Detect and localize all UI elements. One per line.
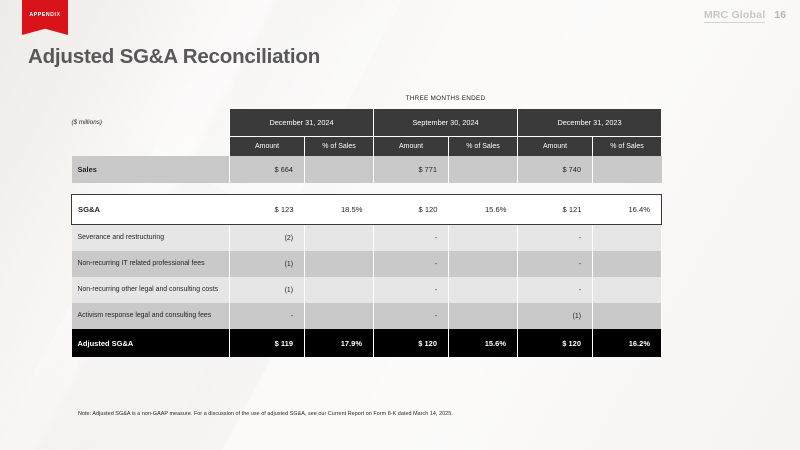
detail-label-2: Non-recurring other legal and consulting…	[72, 277, 230, 303]
detail-0-amount-1: (2)	[230, 225, 305, 252]
detail-1-pct-1	[305, 251, 374, 277]
detail-1-pct-3	[593, 251, 662, 277]
detail-1-amount-3: -	[518, 251, 593, 277]
table-row: Non-recurring other legal and consulting…	[72, 277, 662, 303]
detail-3-amount-1: -	[230, 303, 305, 329]
total-pct-2: 15.6%	[449, 329, 518, 357]
sga-amount-1: $ 123	[230, 195, 305, 225]
brand-area: MRC Global 16	[704, 9, 786, 23]
sga-pct-2: 15.6%	[449, 195, 518, 225]
sales-amount-3: $ 740	[518, 156, 593, 183]
sga-amount-3: $ 121	[518, 195, 593, 225]
sales-pct-2	[449, 156, 518, 183]
subheader-spacer	[72, 137, 230, 157]
detail-1-amount-1: (1)	[230, 251, 305, 277]
period-header-sep-2024: September 30, 2024	[374, 109, 518, 137]
row-spacer	[72, 183, 662, 195]
detail-3-pct-3	[593, 303, 662, 329]
table-row: Activism response legal and consulting f…	[72, 303, 662, 329]
sga-amount-2: $ 120	[374, 195, 449, 225]
detail-0-amount-2: -	[374, 225, 449, 252]
subheader-pct-2: % of Sales	[449, 137, 518, 157]
detail-0-pct-3	[593, 225, 662, 252]
sales-pct-1	[305, 156, 374, 183]
footnote-text: Note: Adjusted SG&A is a non-GAAP measur…	[78, 411, 453, 417]
table-row: Non-recurring IT related professional fe…	[72, 251, 662, 277]
detail-2-pct-1	[305, 277, 374, 303]
total-amount-3: $ 120	[518, 329, 593, 357]
total-pct-3: 16.2%	[593, 329, 662, 357]
detail-3-pct-1	[305, 303, 374, 329]
detail-0-pct-1	[305, 225, 374, 252]
page-number: 16	[774, 9, 786, 21]
appendix-badge-label: APPENDIX	[29, 12, 60, 18]
group-header-label: THREE MONTHS ENDED	[230, 88, 662, 109]
mrc-global-logo: MRC Global	[704, 9, 766, 23]
table-row: Severance and restructuring (2) - -	[72, 225, 662, 252]
subheader-amount-2: Amount	[374, 137, 449, 157]
subheader-amount-3: Amount	[518, 137, 593, 157]
sales-label: Sales	[72, 156, 230, 183]
table-row-sga: SG&A $ 123 18.5% $ 120 15.6% $ 121 16.4%	[72, 195, 662, 225]
detail-0-pct-2	[449, 225, 518, 252]
subheader-pct-3: % of Sales	[593, 137, 662, 157]
sga-label: SG&A	[72, 195, 230, 225]
detail-2-amount-3: -	[518, 277, 593, 303]
group-header-spacer	[72, 88, 230, 109]
reconciliation-table-container: THREE MONTHS ENDED ($ millions) December…	[71, 88, 662, 357]
detail-3-amount-3: (1)	[518, 303, 593, 329]
detail-2-pct-3	[593, 277, 662, 303]
detail-label-3: Activism response legal and consulting f…	[72, 303, 230, 329]
page-title: Adjusted SG&A Reconciliation	[28, 45, 320, 69]
subheader-amount-1: Amount	[230, 137, 305, 157]
detail-0-amount-3: -	[518, 225, 593, 252]
group-header-row: THREE MONTHS ENDED	[72, 88, 662, 109]
total-amount-1: $ 119	[230, 329, 305, 357]
slide-canvas: APPENDIX MRC Global 16 Adjusted SG&A Rec…	[0, 0, 800, 450]
sales-pct-3	[593, 156, 662, 183]
period-header-dec-2023: December 31, 2023	[518, 109, 662, 137]
period-header-row: ($ millions) December 31, 2024 September…	[72, 109, 662, 137]
total-pct-1: 17.9%	[305, 329, 374, 357]
sales-amount-1: $ 664	[230, 156, 305, 183]
detail-1-amount-2: -	[374, 251, 449, 277]
detail-label-0: Severance and restructuring	[72, 225, 230, 252]
sales-amount-2: $ 771	[374, 156, 449, 183]
row-spacer-cell	[72, 183, 662, 195]
detail-3-pct-2	[449, 303, 518, 329]
table-row-sales: Sales $ 664 $ 771 $ 740	[72, 156, 662, 183]
table-row-adjusted-sga: Adjusted SG&A $ 119 17.9% $ 120 15.6% $ …	[72, 329, 662, 357]
subheader-pct-1: % of Sales	[305, 137, 374, 157]
detail-2-amount-1: (1)	[230, 277, 305, 303]
subheader-row: Amount % of Sales Amount % of Sales Amou…	[72, 137, 662, 157]
period-header-dec-2024: December 31, 2024	[230, 109, 374, 137]
appendix-ribbon-badge: APPENDIX	[22, 0, 68, 35]
detail-1-pct-2	[449, 251, 518, 277]
reconciliation-table: THREE MONTHS ENDED ($ millions) December…	[71, 88, 662, 357]
total-amount-2: $ 120	[374, 329, 449, 357]
total-label: Adjusted SG&A	[72, 329, 230, 357]
sga-pct-3: 16.4%	[593, 195, 662, 225]
sga-pct-1: 18.5%	[305, 195, 374, 225]
detail-label-1: Non-recurring IT related professional fe…	[72, 251, 230, 277]
detail-3-amount-2: -	[374, 303, 449, 329]
detail-2-pct-2	[449, 277, 518, 303]
units-label: ($ millions)	[72, 109, 230, 137]
detail-2-amount-2: -	[374, 277, 449, 303]
